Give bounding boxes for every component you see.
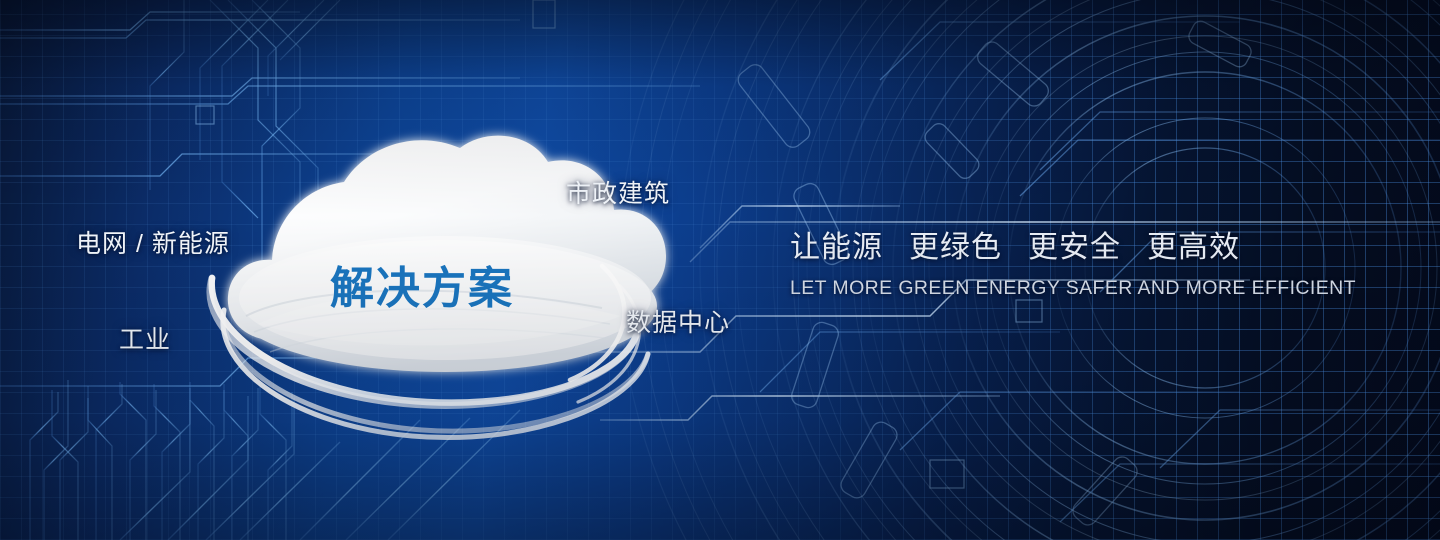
solution-banner: 电网 / 新能源 工业 市政建筑 数据中心 解决方案 让能源更绿色更安全更高效 … xyxy=(0,0,1440,540)
background-vignette xyxy=(0,0,1440,540)
